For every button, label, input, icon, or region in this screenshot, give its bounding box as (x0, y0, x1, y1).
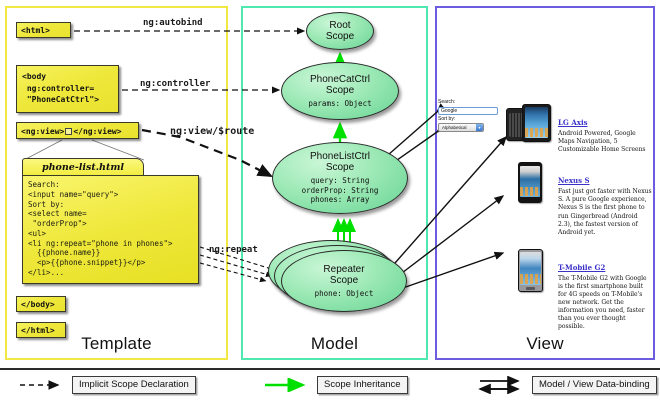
file-callout-phone-list: phone-list.html Search: <input name="que… (22, 158, 199, 284)
green-arrow-icon (263, 378, 311, 392)
search-input[interactable] (438, 107, 498, 115)
code-tag-ngview: <ng:view></ng:view> (16, 122, 139, 139)
phone-snippet: Android Powered, Google Maps Navigation,… (558, 130, 653, 154)
panel-model-label: Model (243, 334, 426, 354)
legend-item-implicit-scope-declaration: Implicit Scope Declaration (18, 376, 196, 394)
scope-repeater-title: Repeater Scope (323, 264, 364, 286)
scope-phonecatctrl: PhoneCatCtrl Scope params: Object (281, 62, 399, 120)
legend-label: Scope Inheritance (317, 376, 408, 394)
scope-phonelistctrl-props: query: String orderProp: String phones: … (302, 176, 379, 205)
scope-root: Root Scope (306, 12, 374, 50)
ngview-open-text: <ng:view> (21, 127, 64, 136)
ngview-placeholder-icon (65, 128, 72, 135)
label-ng-controller: ng:controller (140, 79, 210, 89)
label-ng-repeat: ng:repeat (209, 245, 258, 255)
phone-thumbnail-lg-axis (505, 104, 553, 154)
sort-select[interactable]: Alphabetical ▾ (438, 123, 484, 132)
label-ng-view-route: ng:view/$route (170, 126, 254, 137)
list-item[interactable]: Nexus S Fast just got faster with Nexus … (505, 162, 653, 237)
scope-repeater-props: phone: Object (315, 289, 374, 299)
file-source-code: Search: <input name="query"> Sort by: <s… (22, 175, 199, 284)
phone-thumbnail-tmobile-g2 (505, 249, 553, 332)
file-name-label: phone-list.html (23, 159, 143, 176)
code-tag-body-open-text: <body ng:controller= "PhoneCatCtrl"> (22, 72, 99, 104)
double-arrow-icon (478, 376, 526, 394)
label-ng-autobind: ng:autobind (143, 18, 203, 28)
code-tag-html-close: </html> (16, 322, 66, 338)
legend-item-data-binding: Model / View Data-binding (478, 376, 657, 394)
phone-name-link[interactable]: T-Mobile G2 (558, 263, 605, 272)
sort-label: Sort by: (438, 116, 504, 124)
scope-phonecatctrl-props: params: Object (308, 99, 371, 109)
phone-snippet: Fast just got faster with Nexus S. A pur… (558, 188, 653, 237)
phone-thumbnail-nexus-s (505, 162, 553, 237)
file-callout-tab: phone-list.html (22, 158, 144, 176)
chevron-down-icon: ▾ (476, 124, 483, 131)
diagram-canvas: Template Model View (0, 0, 660, 405)
code-tag-body-close: </body> (16, 296, 66, 312)
panel-view-label: View (437, 334, 653, 354)
sort-select-value: Alphabetical (440, 125, 467, 130)
code-tag-body-open: <body ng:controller= "PhoneCatCtrl"> (16, 65, 119, 113)
list-item[interactable]: T-Mobile G2 The T-Mobile G2 with Google … (505, 249, 653, 332)
legend-item-scope-inheritance: Scope Inheritance (263, 376, 408, 394)
scope-phonecatctrl-title: PhoneCatCtrl Scope (310, 74, 370, 96)
legend: Implicit Scope Declaration Scope Inherit… (0, 368, 660, 405)
legend-label: Implicit Scope Declaration (72, 376, 196, 394)
phone-name-link[interactable]: Nexus S (558, 176, 590, 185)
phone-list: LG Axis Android Powered, Google Maps Nav… (505, 104, 653, 337)
dashed-arrow-icon (18, 378, 66, 392)
scope-phonelistctrl: PhoneListCtrl Scope query: String orderP… (272, 142, 408, 214)
list-item[interactable]: LG Axis Android Powered, Google Maps Nav… (505, 104, 653, 154)
legend-label: Model / View Data-binding (532, 376, 657, 394)
scope-repeater: Repeater Scope phone: Object (281, 250, 407, 312)
ngview-close-text: </ng:view> (73, 127, 121, 136)
view-search-form: Search: Sort by: Alphabetical ▾ (438, 99, 504, 132)
phone-entry: LG Axis Android Powered, Google Maps Nav… (553, 104, 653, 154)
code-tag-html-open: <html> (16, 22, 71, 38)
search-label: Search: (438, 99, 504, 107)
phone-name-link[interactable]: LG Axis (558, 118, 588, 127)
scope-root-title: Root Scope (326, 20, 354, 42)
phone-entry: Nexus S Fast just got faster with Nexus … (553, 162, 653, 237)
scope-phonelistctrl-title: PhoneListCtrl Scope (310, 151, 370, 173)
phone-entry: T-Mobile G2 The T-Mobile G2 with Google … (553, 249, 653, 332)
phone-snippet: The T-Mobile G2 with Google is the first… (558, 275, 653, 332)
